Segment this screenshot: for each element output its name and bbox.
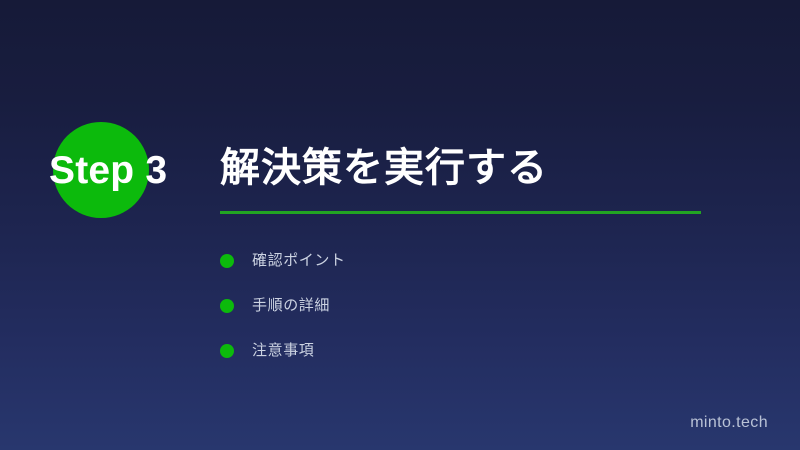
list-item-label: 確認ポイント	[252, 251, 346, 271]
step-badge-label: Step 3	[49, 148, 219, 194]
bullet-dot-icon	[220, 254, 234, 268]
list-item: 確認ポイント	[220, 238, 690, 283]
list-item-label: 手順の詳細	[252, 296, 330, 316]
slide-title: 解決策を実行する	[220, 143, 548, 193]
bullet-dot-icon	[220, 344, 234, 358]
bullet-list: 確認ポイント 手順の詳細 注意事項	[220, 238, 690, 373]
list-item: 注意事項	[220, 328, 690, 373]
list-item: 手順の詳細	[220, 283, 690, 328]
list-item-label: 注意事項	[252, 341, 314, 361]
footer-brand: minto.tech	[690, 414, 768, 432]
bullet-dot-icon	[220, 299, 234, 313]
title-divider	[220, 211, 701, 214]
slide-canvas: Step 3 解決策を実行する 確認ポイント 手順の詳細 注意事項 minto.…	[0, 0, 800, 450]
